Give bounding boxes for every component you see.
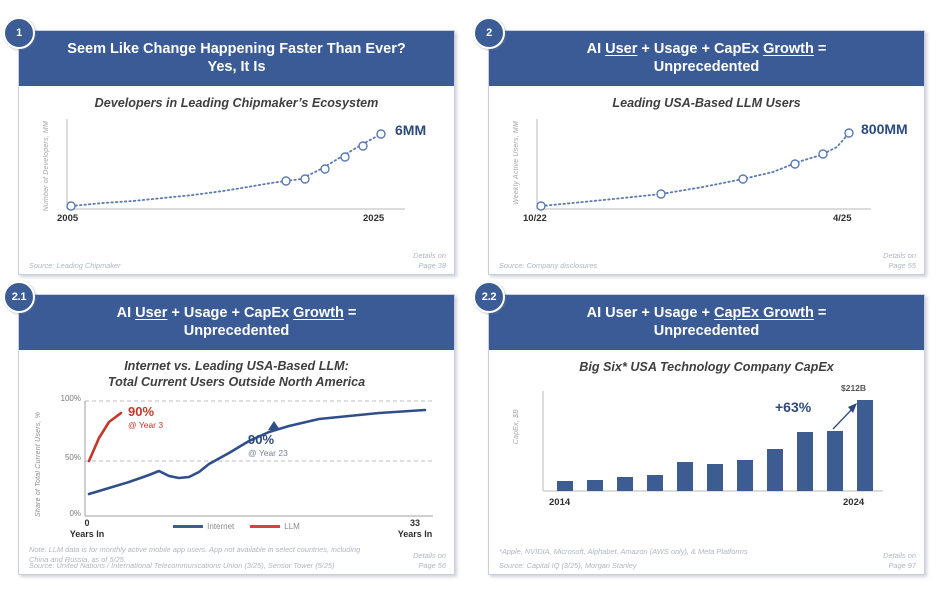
source-text: Source: Leading Chipmaker [29,261,121,271]
details-line2: Page 38 [418,261,446,270]
x-tick-start: 2014 [549,497,570,508]
y-tick-100: 100% [53,394,81,403]
y-tick-0: 0% [53,509,81,518]
details-line1: Details on [883,251,916,260]
panel-2-1: 2.1 AI User + Usage + CapEx Growth = Unp… [18,294,455,575]
annotation-internet: 90% @ Year 23 [248,433,288,459]
x-tick-start: 10/22 [523,213,547,224]
details-line2: Page 55 [888,261,916,270]
chart-developers: Number of Developers, MM 6MM 2005 2025 [33,117,438,242]
header-text-mid: + Usage + CapEx [637,41,763,57]
panel-header: AI User + Usage + CapEx Growth = Unprece… [19,295,454,350]
panel-header-line1: Seem Like Change Happening Faster Than E… [67,41,405,57]
panel-footer: Source: Capital IQ (3/25), Morgan Stanle… [489,551,924,570]
header-underline-growth: Growth [293,305,344,321]
end-value-label: 6MM [395,122,426,138]
header-underline-user: User [135,305,167,321]
line-chart-svg [503,117,907,225]
annotation-internet-sub: @ Year 23 [248,447,288,459]
panel-header: AI User + Usage + CapEx Growth = Unprece… [489,295,924,350]
legend-item-internet: Internet [173,522,234,531]
end-value-label: $212B [841,383,866,393]
details-line1: Details on [413,551,446,560]
details-reference: Details on Page 55 [875,251,916,270]
panel-2-2: 2.2 AI User + Usage + CapEx Growth = Unp… [488,294,925,575]
panel-subtitle: Developers in Leading Chipmaker’s Ecosys… [19,86,454,113]
annotation-internet-value: 90% [248,433,288,447]
details-reference: Details on Page 38 [405,251,446,270]
details-line1: Details on [883,551,916,560]
panel-header-line2: Unprecedented [184,323,290,339]
details-line2: Page 56 [418,561,446,570]
legend-swatch-internet-icon [173,525,203,528]
x-tick-end: 2024 [843,497,864,508]
source-text: Source: Company disclosures [499,261,597,271]
header-underline-capex-growth: CapEx Growth [714,305,814,321]
details-line2: Page 97 [888,561,916,570]
source-text: Source: Capital IQ (3/25), Morgan Stanle… [499,561,637,571]
annotation-llm: 90% @ Year 3 [128,405,163,431]
subtitle-line2: Total Current Users Outside North Americ… [108,375,365,389]
growth-annotation: +63% [775,399,811,415]
end-value-label: 800MM [861,121,908,137]
header-text-pre: AI User + Usage + [587,305,714,321]
panel-footer: Source: United Nations / International T… [19,551,454,570]
legend-label-internet: Internet [207,522,234,531]
details-reference: Details on Page 97 [875,551,916,570]
chart-legend: Internet LLM [33,522,440,531]
chart-llm-users: Weekly Active Users, MM 800MM 10/22 4/25 [503,117,908,242]
y-axis-label: Number of Developers, MM [43,121,50,211]
panel-subtitle: Big Six* USA Technology Company CapEx [489,350,924,377]
source-text: Source: United Nations / International T… [29,561,335,571]
y-axis-label: Weekly Active Users, MM [513,121,520,205]
subtitle-line1: Internet vs. Leading USA-Based LLM: [124,359,349,373]
header-text-mid: + Usage + CapEx [167,305,293,321]
legend-label-llm: LLM [284,522,300,531]
x-tick-end: 2025 [363,213,384,224]
chart-internet-vs-llm: Share of Total Current Users, % 100% 50%… [33,396,440,531]
panel-subtitle: Internet vs. Leading USA-Based LLM: Tota… [19,350,454,392]
annotation-llm-value: 90% [128,405,163,419]
panel-subtitle: Leading USA-Based LLM Users [489,86,924,113]
y-axis-label: CapEx, $B [513,409,520,444]
legend-item-llm: LLM [250,522,300,531]
chart-capex: CapEx, $B $212B +63% 2014 2 [503,381,904,516]
line-chart-svg [33,117,437,225]
panel-header-line2: Yes, It Is [207,59,265,75]
header-underline-growth: Growth [763,41,814,57]
header-text-post: = [814,305,827,321]
panel-header: Seem Like Change Happening Faster Than E… [19,31,454,86]
annotation-llm-sub: @ Year 3 [128,419,163,431]
panel-badge: 2 [473,17,505,49]
y-axis-label: Share of Total Current Users, % [35,402,42,517]
panel-badge: 2.1 [3,281,35,313]
header-text-pre: AI [117,305,136,321]
legend-swatch-llm-icon [250,525,280,528]
header-text-post: = [344,305,357,321]
panel-1: 1 Seem Like Change Happening Faster Than… [18,30,455,275]
panel-footer: Source: Leading Chipmaker Details on Pag… [19,251,454,270]
header-underline-user: User [605,41,637,57]
x-tick-end: 4/25 [833,213,852,224]
slide-grid: 1 Seem Like Change Happening Faster Than… [0,0,938,590]
panel-header: AI User + Usage + CapEx Growth = Unprece… [489,31,924,86]
x-tick-start: 2005 [57,213,78,224]
details-reference: Details on Page 56 [405,551,446,570]
panel-header-line2: Unprecedented [654,323,760,339]
header-text-pre: AI [587,41,606,57]
panel-header-line2: Unprecedented [654,59,760,75]
panel-badge: 1 [3,17,35,49]
panel-2: 2 AI User + Usage + CapEx Growth = Unpre… [488,30,925,275]
line-chart-svg [33,396,442,522]
header-text-post: = [814,41,827,57]
bar-chart-svg [503,381,903,509]
y-tick-50: 50% [53,453,81,462]
panel-badge: 2.2 [473,281,505,313]
details-line1: Details on [413,251,446,260]
panel-footer: Source: Company disclosures Details on P… [489,251,924,270]
